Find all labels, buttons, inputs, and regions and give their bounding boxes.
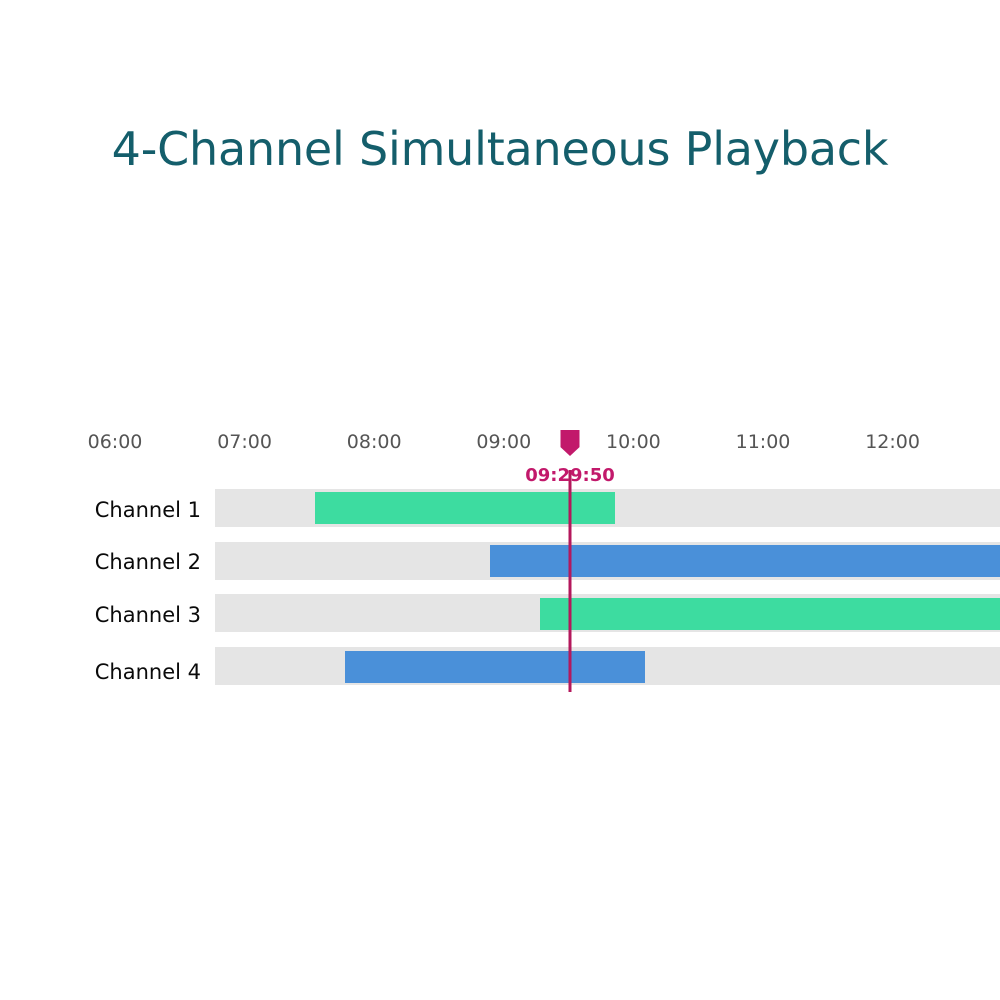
axis-tick-label: 06:00: [88, 431, 143, 453]
axis-tick-label: 07:00: [217, 431, 272, 453]
playback-segment-channel-2[interactable]: [490, 545, 1000, 577]
playhead-marker-icon[interactable]: [561, 430, 580, 456]
axis-tick-label: 09:00: [476, 431, 531, 453]
playback-segment-channel-4[interactable]: [345, 651, 645, 683]
chart-canvas: 4-Channel Simultaneous Playback 06:00 07…: [0, 0, 1000, 1000]
axis-tick-label: 08:00: [347, 431, 402, 453]
playhead-time-label: 09:29:50: [525, 465, 615, 486]
channel-label-3: Channel 3: [95, 603, 201, 627]
playback-segment-channel-3[interactable]: [540, 598, 1000, 630]
channel-label-2: Channel 2: [95, 550, 201, 574]
playhead-line[interactable]: [569, 470, 572, 692]
axis-tick-label: 11:00: [736, 431, 791, 453]
channel-label-1: Channel 1: [95, 498, 201, 522]
axis-tick-label: 12:00: [865, 431, 920, 453]
timeline-chart: 06:00 07:00 08:00 09:00 10:00 11:00 12:0…: [0, 0, 1000, 1000]
axis-tick-label: 10:00: [606, 431, 661, 453]
channel-label-4: Channel 4: [95, 660, 201, 684]
